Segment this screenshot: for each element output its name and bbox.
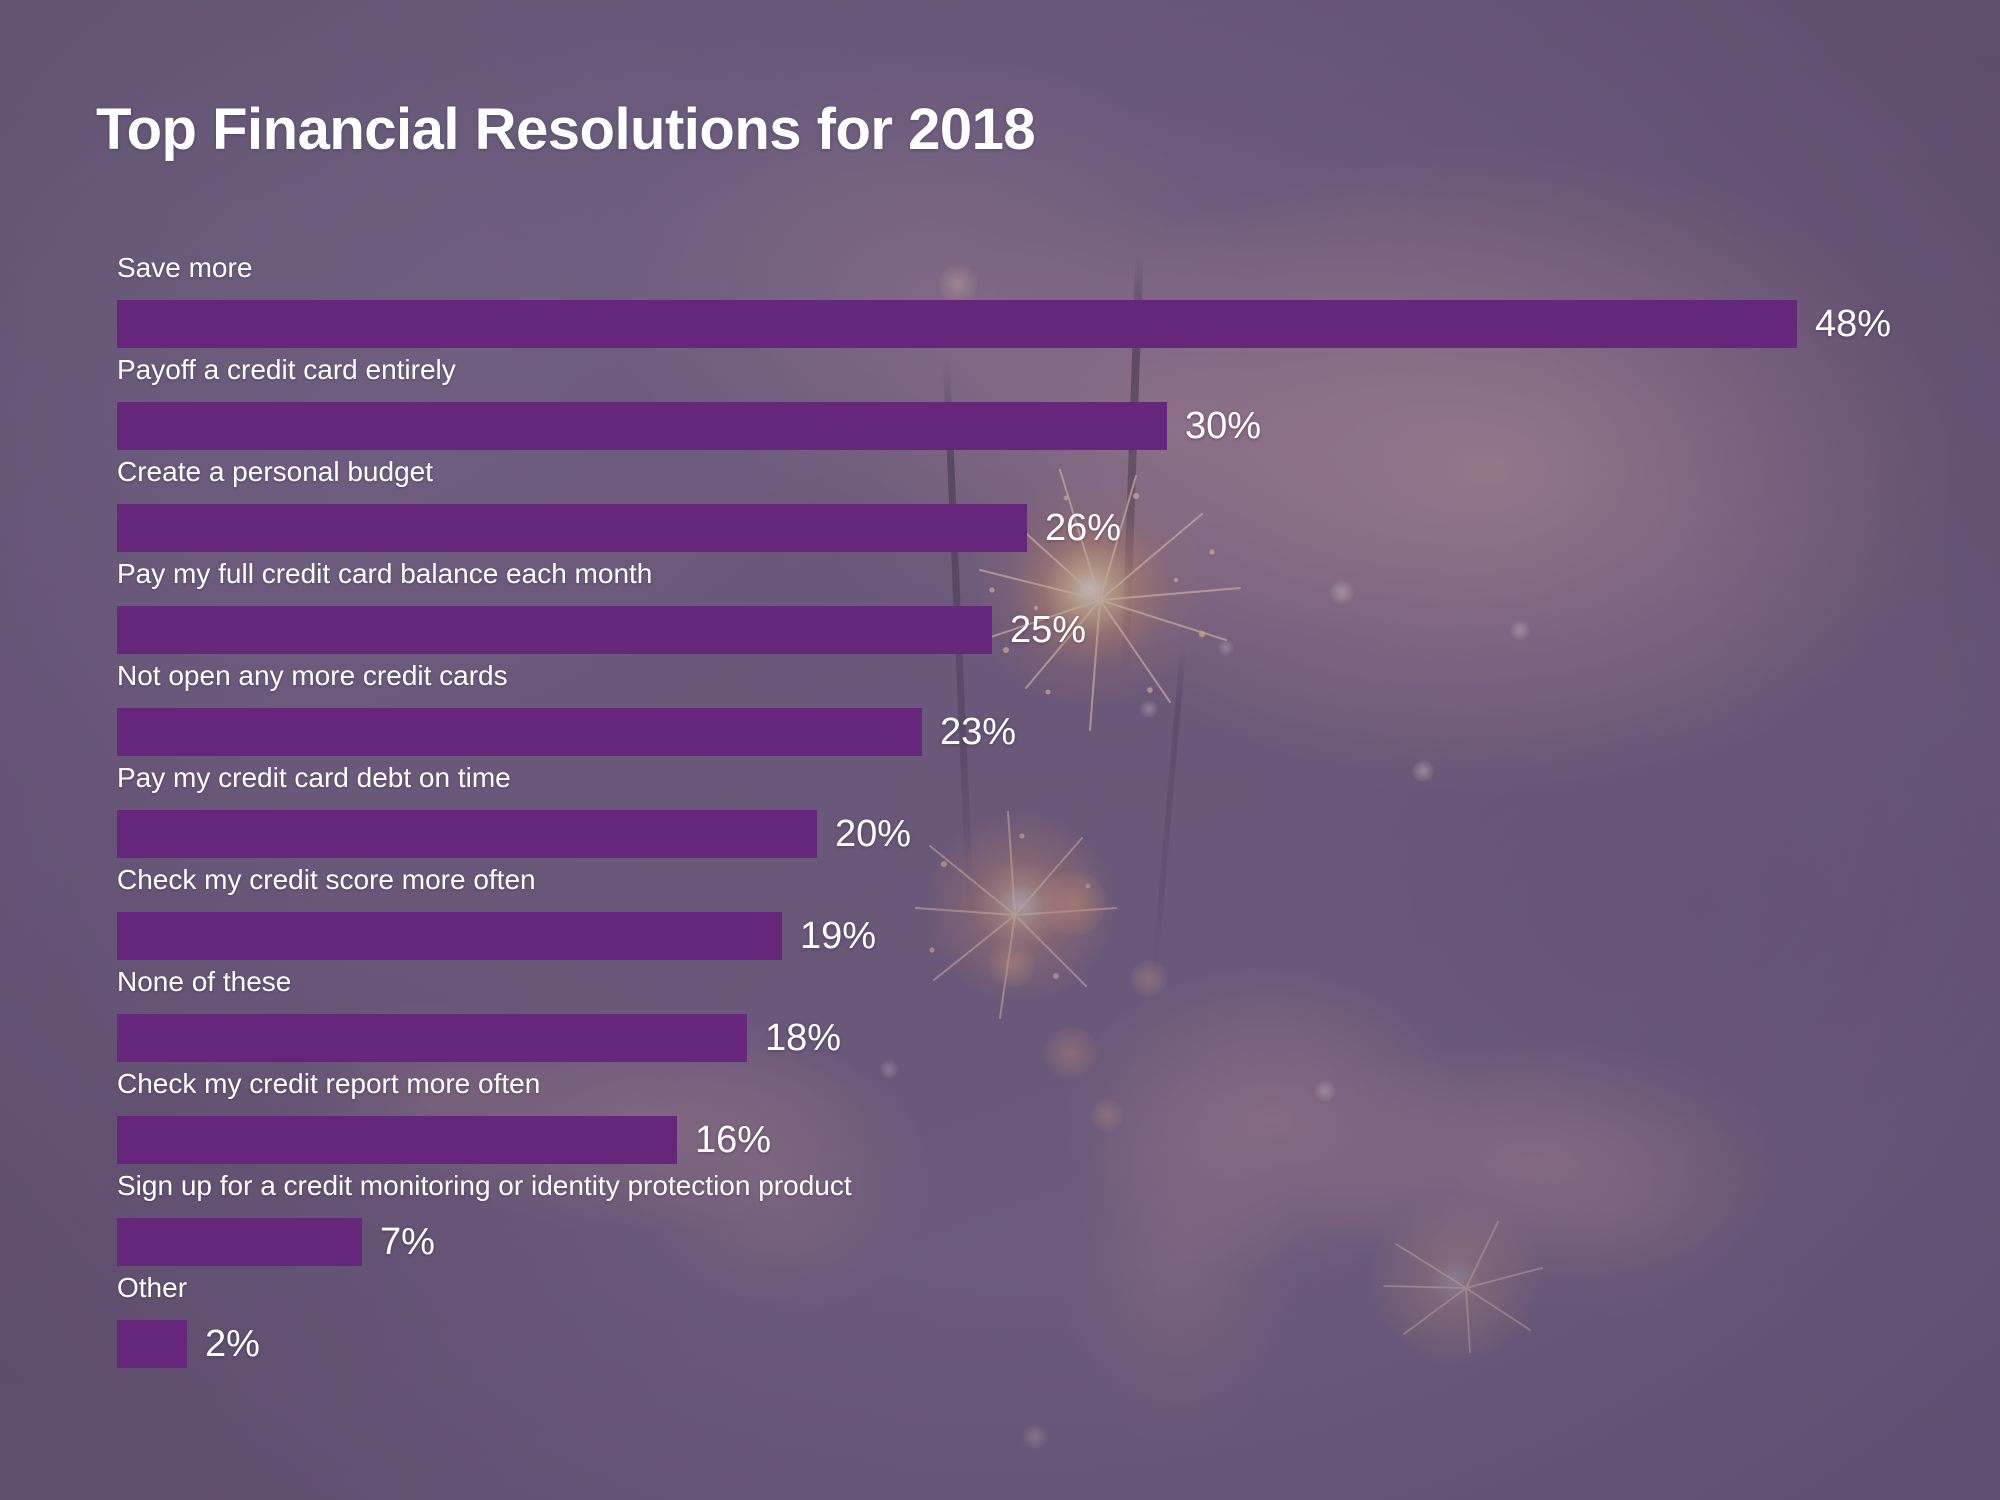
bar-value-label: 16%: [695, 1119, 771, 1162]
bar-value-label: 20%: [835, 813, 911, 856]
bar: [117, 1320, 187, 1368]
chart-canvas: Top Financial Resolutions for 2018 Save …: [0, 0, 2000, 1500]
bar-value-label: 25%: [1010, 609, 1086, 652]
bar-value-label: 18%: [765, 1017, 841, 1060]
bar-category-label: Check my credit score more often: [117, 864, 536, 896]
bar-value-label: 7%: [380, 1221, 435, 1264]
bar-value-label: 30%: [1185, 405, 1261, 448]
bar-and-value: 20%: [117, 810, 911, 858]
bar: [117, 1116, 677, 1164]
bar-value-label: 23%: [940, 711, 1016, 754]
bar-row: None of these18%: [117, 969, 1977, 1071]
bar-and-value: 23%: [117, 708, 1016, 756]
bar-and-value: 16%: [117, 1116, 771, 1164]
bar-category-label: Payoff a credit card entirely: [117, 354, 456, 386]
bar-value-label: 26%: [1045, 507, 1121, 550]
bar-category-label: Check my credit report more often: [117, 1068, 540, 1100]
bar: [117, 504, 1027, 552]
bar-value-label: 2%: [205, 1323, 260, 1366]
bar: [117, 606, 992, 654]
bar-row: Pay my full credit card balance each mon…: [117, 561, 1977, 663]
bar-row: Save more48%: [117, 255, 1977, 357]
chart-title: Top Financial Resolutions for 2018: [96, 96, 1035, 163]
bar-category-label: Sign up for a credit monitoring or ident…: [117, 1170, 852, 1202]
bar-value-label: 48%: [1815, 303, 1891, 346]
bar: [117, 1218, 362, 1266]
bar-row: Payoff a credit card entirely30%: [117, 357, 1977, 459]
bar-and-value: 19%: [117, 912, 876, 960]
bar-row: Create a personal budget26%: [117, 459, 1977, 561]
bar: [117, 708, 922, 756]
bar-row: Pay my credit card debt on time20%: [117, 765, 1977, 867]
bar-category-label: Other: [117, 1272, 187, 1304]
bar-and-value: 30%: [117, 402, 1261, 450]
bar: [117, 912, 782, 960]
bar: [117, 1014, 747, 1062]
bar-and-value: 48%: [117, 300, 1891, 348]
bar-row: Check my credit report more often16%: [117, 1071, 1977, 1173]
bar-value-label: 19%: [800, 915, 876, 958]
bar-category-label: None of these: [117, 966, 291, 998]
bar-row: Not open any more credit cards23%: [117, 663, 1977, 765]
bar-and-value: 2%: [117, 1320, 260, 1368]
bar-and-value: 25%: [117, 606, 1086, 654]
bar: [117, 402, 1167, 450]
bar-category-label: Create a personal budget: [117, 456, 433, 488]
bar: [117, 300, 1797, 348]
bar-row: Other2%: [117, 1275, 1977, 1377]
bar: [117, 810, 817, 858]
bar-and-value: 18%: [117, 1014, 841, 1062]
bar-and-value: 7%: [117, 1218, 435, 1266]
bar-category-label: Save more: [117, 252, 252, 284]
bar-rows: Save more48%Payoff a credit card entirel…: [117, 255, 1977, 1377]
bar-category-label: Not open any more credit cards: [117, 660, 508, 692]
bar-and-value: 26%: [117, 504, 1121, 552]
bar-category-label: Pay my credit card debt on time: [117, 762, 511, 794]
bar-category-label: Pay my full credit card balance each mon…: [117, 558, 652, 590]
bar-row: Sign up for a credit monitoring or ident…: [117, 1173, 1977, 1275]
bar-chart: Top Financial Resolutions for 2018 Save …: [0, 0, 2000, 1500]
bar-row: Check my credit score more often19%: [117, 867, 1977, 969]
